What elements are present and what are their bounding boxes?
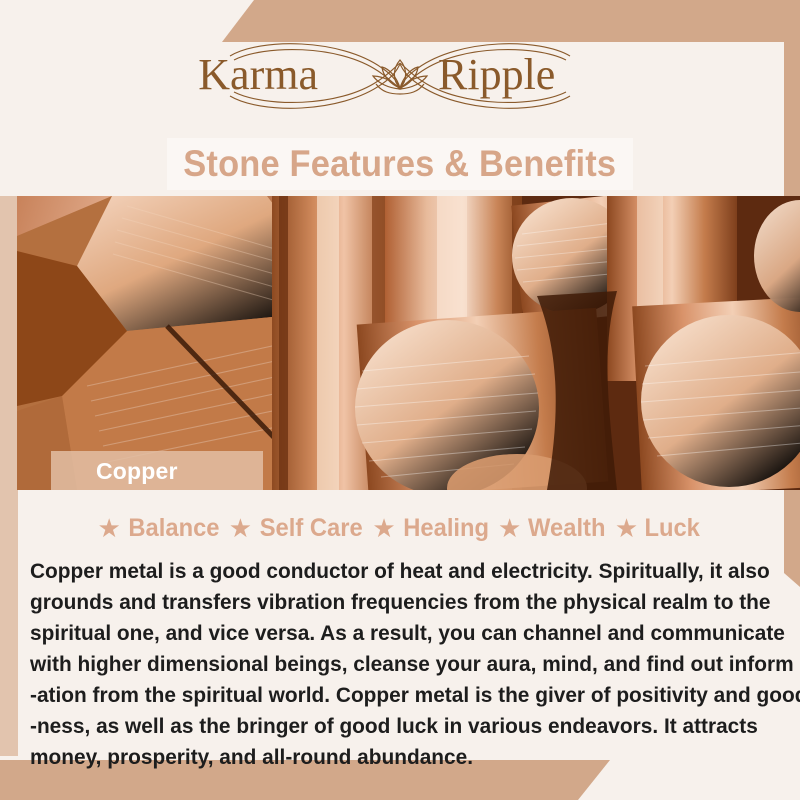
feature-item-balance: ★ Balance: [95, 514, 226, 543]
description-paragraph: Copper metal is a good conductor of heat…: [30, 556, 772, 773]
feature-item-healing: ★ Healing: [369, 514, 495, 543]
page-title-banner: Stone Features & Benefits: [167, 138, 633, 190]
logo-word-karma: Karma: [198, 50, 318, 99]
description-line: spiritual one, and vice versa. As a resu…: [30, 618, 750, 649]
star-icon: ★: [98, 515, 121, 541]
feature-label: Wealth: [528, 514, 605, 543]
description-line: Copper metal is a good conductor of heat…: [30, 556, 750, 587]
star-icon: ★: [498, 515, 521, 541]
feature-label: Luck: [645, 514, 700, 543]
brand-logo: Karma Ripple: [0, 34, 800, 118]
copper-bars-illustration: [17, 196, 800, 490]
description-line: grounds and transfers vibration frequenc…: [30, 587, 750, 618]
infographic-canvas: Karma Ripple Stone Features & Benefits: [0, 0, 800, 800]
hero-image: Copper: [17, 196, 800, 490]
description-line: money, prosperity, and all-round abundan…: [30, 742, 750, 773]
star-icon: ★: [372, 515, 395, 541]
star-icon: ★: [229, 515, 252, 541]
features-list: ★ Balance ★ Self Care ★ Healing ★ Wealth…: [18, 508, 782, 548]
hero-label-badge: Copper: [51, 451, 263, 490]
feature-item-self-care: ★ Self Care: [226, 514, 370, 543]
feature-label: Balance: [128, 514, 219, 543]
feature-item-wealth: ★ Wealth: [495, 514, 612, 543]
description-line: -ation from the spiritual world. Copper …: [30, 680, 750, 711]
decorative-bar-left: [0, 196, 18, 756]
feature-item-luck: ★ Luck: [612, 514, 706, 543]
description-line: -ness, as well as the bringer of good lu…: [30, 711, 750, 742]
hero-label-text: Copper: [96, 458, 178, 485]
logo-svg: Karma Ripple: [190, 34, 610, 118]
feature-label: Healing: [403, 514, 489, 543]
star-icon: ★: [615, 515, 638, 541]
feature-label: Self Care: [260, 514, 363, 543]
page-title: Stone Features & Benefits: [184, 143, 617, 185]
description-line: with higher dimensional beings, cleanse …: [30, 649, 750, 680]
logo-word-ripple: Ripple: [438, 50, 555, 99]
